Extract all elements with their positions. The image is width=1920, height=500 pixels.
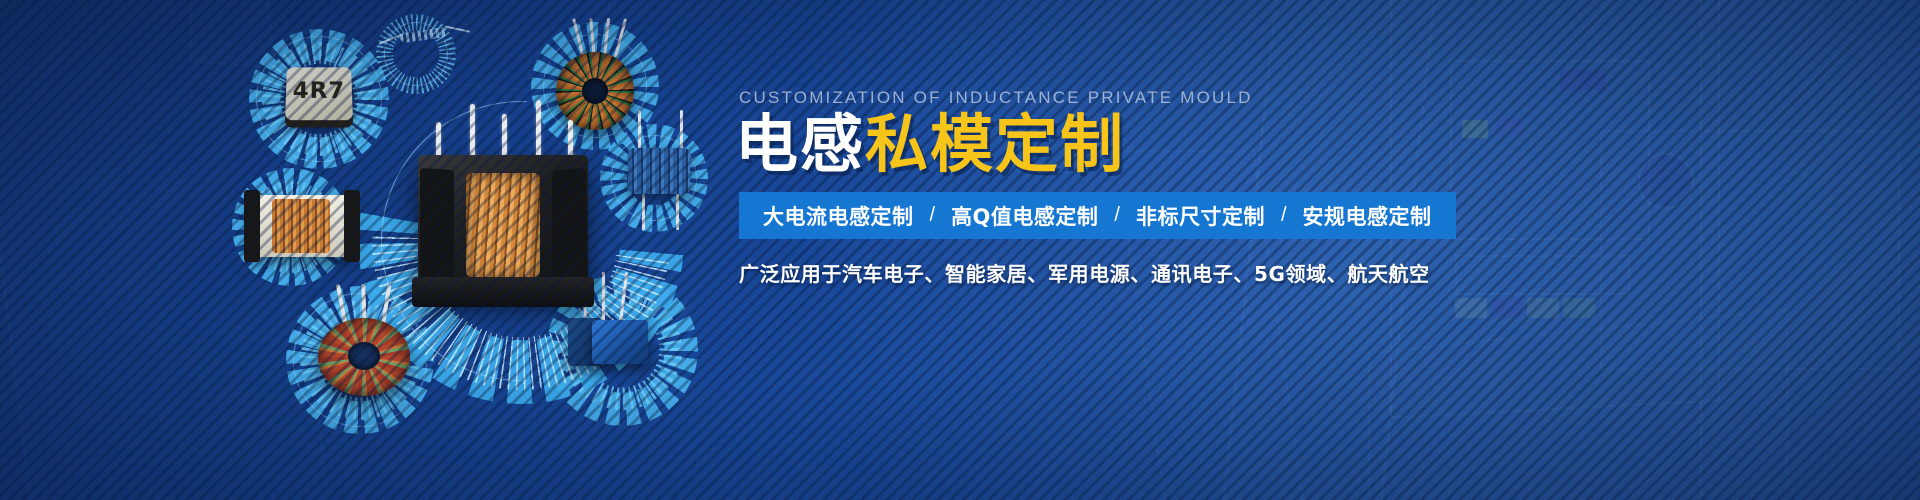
feature-item-4: 安规电感定制 — [1303, 201, 1432, 231]
feature-item-3: 非标尺寸定制 — [1136, 201, 1265, 231]
feature-item-2: 高Q值电感定制 — [951, 201, 1098, 231]
feature-item-1: 大电流电感定制 — [763, 201, 914, 231]
banner-subline: 广泛应用于汽车电子、智能家居、军用电源、通讯电子、5G领域、航天航空 — [739, 258, 1430, 287]
feature-separator-2: / — [1098, 204, 1136, 227]
feature-bar: 大电流电感定制 / 高Q值电感定制 / 非标尺寸定制 / 安规电感定制 — [739, 192, 1456, 239]
feature-separator-3: / — [1265, 204, 1303, 227]
banner-eyebrow: CUSTOMIZATION OF INDUCTANCE PRIVATE MOUL… — [739, 88, 1253, 108]
headline-part-yellow: 私模定制 — [865, 108, 1125, 181]
promo-banner: CUSTOMIZATION OF INDUCTANCE PRIVATE MOUL… — [0, 0, 1920, 500]
feature-separator-1: / — [914, 204, 952, 227]
banner-headline: 电感私模定制 — [735, 113, 1125, 176]
headline-part-white: 电感 — [735, 108, 865, 181]
banner-content: CUSTOMIZATION OF INDUCTANCE PRIVATE MOUL… — [735, 0, 1695, 500]
